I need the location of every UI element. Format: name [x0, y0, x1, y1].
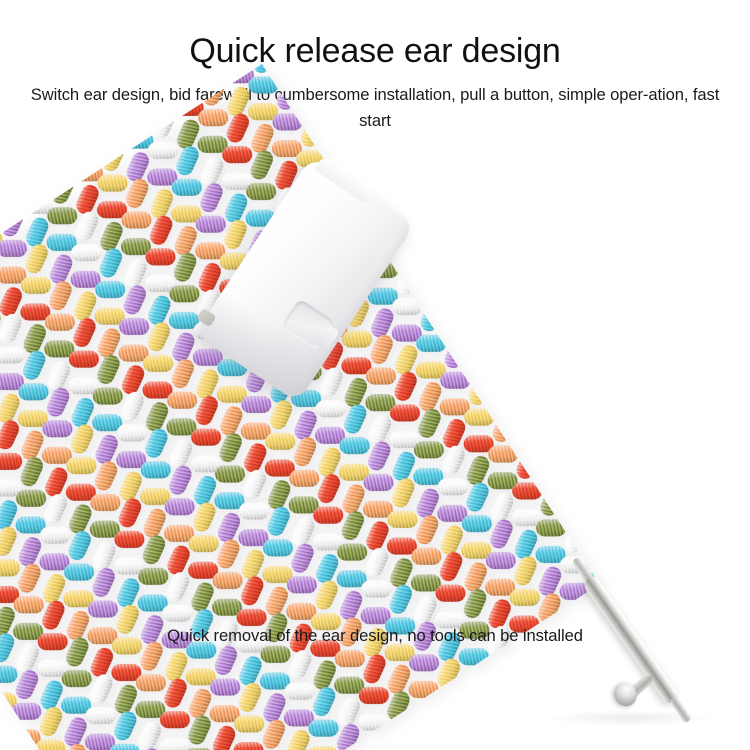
footer-caption: Quick removal of the ear design, no tool…: [0, 624, 750, 648]
spring-bar-tip-right: [669, 696, 692, 724]
page-subtitle: Switch ear design, bid farewell to cumbe…: [24, 82, 726, 134]
connector-lip: [314, 155, 376, 204]
page-title: Quick release ear design: [0, 30, 750, 72]
product-feature-image: Quick release ear design Switch ear desi…: [0, 0, 750, 750]
product-photo: [0, 150, 750, 750]
